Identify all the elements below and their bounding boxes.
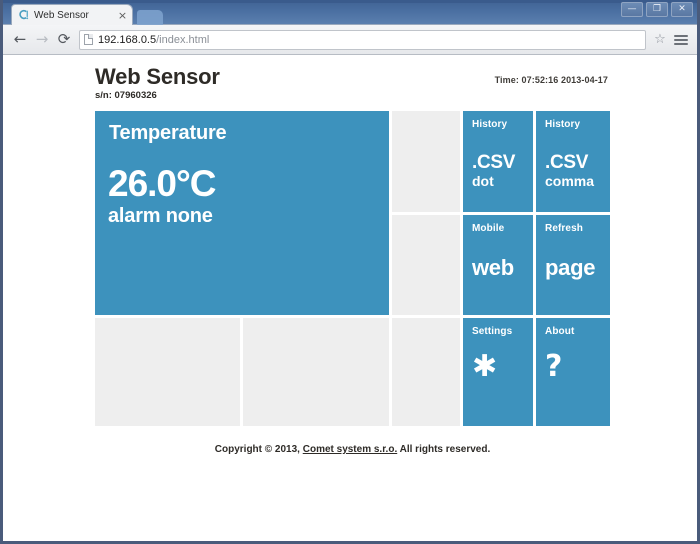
page-content: Web Sensor s/n: 07960326 Time: 07:52:16 … [95, 65, 610, 455]
url-host: 192.168.0.5 [98, 34, 156, 46]
footer-company-link[interactable]: Comet system s.r.o. [303, 444, 397, 455]
empty-tile [243, 318, 389, 426]
empty-tile [392, 215, 460, 315]
browser-window: Web Sensor × — ❐ ✕ ← → ⟳ 192.168.0.5 /in… [0, 0, 700, 544]
comet-logo-icon [17, 9, 30, 22]
tile-value: page [545, 257, 595, 279]
device-time: Time: 07:52:16 2013-04-17 [495, 75, 608, 85]
tab-title: Web Sensor [34, 10, 117, 21]
tile-subvalue: comma [545, 173, 594, 189]
serial-number: s/n: 07960326 [95, 90, 610, 101]
history-csv-comma-tile[interactable]: History .CSV comma [536, 111, 610, 212]
temperature-value: 26.0°C [108, 165, 216, 202]
bookmark-star-icon[interactable]: ☆ [651, 31, 669, 49]
tab-strip: Web Sensor × — ❐ ✕ [3, 0, 697, 25]
tile-label: History [545, 119, 580, 130]
url-path: /index.html [156, 34, 209, 46]
tile-label: About [545, 326, 574, 337]
settings-tile[interactable]: Settings ✱ [463, 318, 533, 426]
tile-value: .CSV [545, 153, 588, 172]
temperature-tile[interactable]: Temperature 26.0°C alarm none [95, 111, 389, 315]
page-viewport: Web Sensor s/n: 07960326 Time: 07:52:16 … [3, 55, 697, 538]
empty-tile [392, 111, 460, 212]
browser-tab[interactable]: Web Sensor × [11, 4, 133, 25]
address-bar[interactable]: 192.168.0.5 /index.html [79, 30, 646, 50]
temperature-label: Temperature [109, 122, 226, 145]
about-tile[interactable]: About ? [536, 318, 610, 426]
asterisk-icon: ✱ [472, 352, 497, 382]
browser-toolbar: ← → ⟳ 192.168.0.5 /index.html ☆ [3, 25, 697, 55]
temperature-alarm-status: alarm none [108, 205, 213, 228]
tile-label: Refresh [545, 223, 583, 234]
tile-label: Settings [472, 326, 512, 337]
reload-icon[interactable]: ⟳ [53, 29, 75, 51]
maximize-button[interactable]: ❐ [646, 2, 668, 17]
page-header: Web Sensor s/n: 07960326 Time: 07:52:16 … [95, 65, 610, 111]
page-icon [84, 34, 93, 45]
question-mark-icon: ? [545, 352, 562, 382]
footer-prefix: Copyright © 2013, [215, 444, 303, 455]
tile-label: Mobile [472, 223, 504, 234]
page-footer: Copyright © 2013, Comet system s.r.o. Al… [95, 444, 610, 455]
refresh-page-tile[interactable]: Refresh page [536, 215, 610, 315]
tile-value: .CSV [472, 153, 515, 172]
new-tab-icon[interactable] [137, 10, 163, 25]
window-controls: — ❐ ✕ [621, 2, 693, 17]
footer-suffix: All rights reserved. [397, 444, 490, 455]
back-icon[interactable]: ← [9, 29, 31, 51]
tile-subvalue: dot [472, 173, 494, 189]
minimize-button[interactable]: — [621, 2, 643, 17]
tile-value: web [472, 257, 514, 279]
mobile-web-tile[interactable]: Mobile web [463, 215, 533, 315]
tile-label: History [472, 119, 507, 130]
close-icon[interactable]: × [117, 10, 128, 21]
empty-tile [392, 318, 460, 426]
empty-tile [95, 318, 240, 426]
history-csv-dot-tile[interactable]: History .CSV dot [463, 111, 533, 212]
close-window-button[interactable]: ✕ [671, 2, 693, 17]
forward-icon[interactable]: → [31, 29, 53, 51]
hamburger-menu-icon[interactable] [671, 31, 691, 49]
tile-grid: Temperature 26.0°C alarm none History .C… [95, 111, 610, 426]
